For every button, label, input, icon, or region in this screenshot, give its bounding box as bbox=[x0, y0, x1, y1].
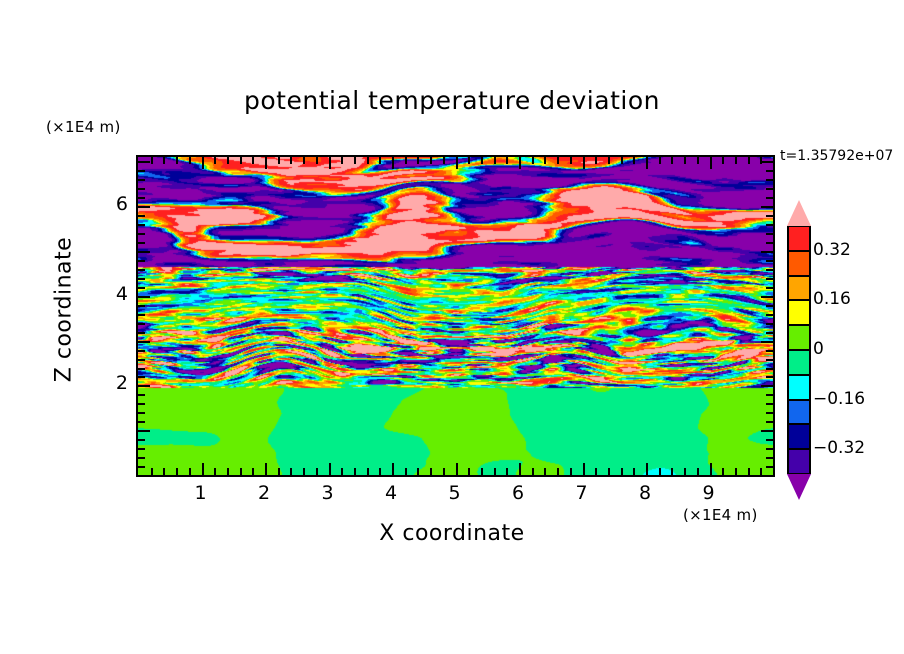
x-tick bbox=[506, 468, 508, 475]
y-tick-right bbox=[766, 278, 773, 280]
x-tick-top bbox=[684, 157, 686, 164]
y-tick bbox=[138, 188, 145, 190]
y-tick bbox=[138, 439, 145, 441]
x-tick-top bbox=[316, 157, 318, 164]
x-tick-label: 9 bbox=[694, 482, 724, 504]
x-tick-top bbox=[176, 157, 178, 164]
x-tick-top bbox=[532, 157, 534, 164]
x-tick-label: 2 bbox=[249, 482, 279, 504]
x-tick-top bbox=[214, 157, 216, 164]
x-tick bbox=[481, 468, 483, 475]
y-tick-right bbox=[766, 260, 773, 262]
y-tick bbox=[138, 385, 150, 387]
page-title: potential temperature deviation bbox=[0, 86, 904, 115]
x-tick bbox=[417, 468, 419, 475]
y-tick-right bbox=[766, 242, 773, 244]
y-tick-right bbox=[766, 323, 773, 325]
x-tick-top bbox=[544, 157, 546, 164]
x-tick bbox=[443, 468, 445, 475]
y-tick bbox=[138, 215, 145, 217]
y-tick-label: 2 bbox=[104, 372, 128, 394]
x-tick-top bbox=[570, 157, 572, 164]
y-tick-right bbox=[766, 466, 773, 468]
y-tick bbox=[138, 224, 145, 226]
y-tick bbox=[138, 233, 145, 235]
y-tick-right bbox=[761, 430, 773, 432]
x-tick bbox=[265, 463, 267, 475]
y-tick-right bbox=[766, 439, 773, 441]
colorbar-band bbox=[787, 449, 811, 474]
x-tick-top bbox=[341, 157, 343, 164]
x-tick bbox=[710, 463, 712, 475]
y-tick bbox=[138, 287, 145, 289]
x-tick bbox=[722, 468, 724, 475]
y-tick-right bbox=[766, 170, 773, 172]
y-tick-label: 4 bbox=[104, 283, 128, 305]
x-tick bbox=[252, 468, 254, 475]
x-tick-top bbox=[519, 157, 521, 169]
y-tick-right bbox=[766, 412, 773, 414]
y-tick bbox=[138, 341, 150, 343]
y-tick-right bbox=[761, 341, 773, 343]
x-tick bbox=[519, 463, 521, 475]
x-tick bbox=[341, 468, 343, 475]
y-tick-right bbox=[766, 215, 773, 217]
x-tick-top bbox=[227, 157, 229, 164]
y-tick bbox=[138, 314, 145, 316]
x-tick-top bbox=[367, 157, 369, 164]
x-tick bbox=[354, 468, 356, 475]
y-tick-right bbox=[766, 359, 773, 361]
x-tick bbox=[329, 463, 331, 475]
x-tick bbox=[646, 463, 648, 475]
y-tick-right bbox=[761, 385, 773, 387]
x-tick bbox=[468, 468, 470, 475]
y-tick bbox=[138, 170, 145, 172]
x-tick bbox=[227, 468, 229, 475]
y-tick-right bbox=[766, 421, 773, 423]
x-tick-top bbox=[481, 157, 483, 164]
x-tick bbox=[214, 468, 216, 475]
x-tick bbox=[570, 468, 572, 475]
y-tick-right bbox=[766, 188, 773, 190]
x-tick bbox=[671, 468, 673, 475]
x-tick-top bbox=[621, 157, 623, 164]
y-tick-right bbox=[766, 448, 773, 450]
y-tick bbox=[138, 206, 150, 208]
x-tick bbox=[290, 468, 292, 475]
y-tick bbox=[138, 430, 150, 432]
y-tick bbox=[138, 305, 145, 307]
x-tick-top bbox=[189, 157, 191, 164]
y-tick bbox=[138, 161, 150, 163]
x-tick-top bbox=[456, 157, 458, 169]
colorbar-band bbox=[787, 375, 811, 400]
y-tick-right bbox=[761, 206, 773, 208]
x-tick bbox=[430, 468, 432, 475]
x-tick bbox=[583, 463, 585, 475]
x-tick bbox=[316, 468, 318, 475]
x-tick-label: 6 bbox=[503, 482, 533, 504]
x-tick-top bbox=[671, 157, 673, 164]
y-tick bbox=[138, 242, 145, 244]
x-tick-top bbox=[722, 157, 724, 164]
x-tick bbox=[202, 463, 204, 475]
y-tick-right bbox=[766, 376, 773, 378]
y-tick bbox=[138, 251, 150, 253]
colorbar-top-cap bbox=[787, 200, 811, 226]
y-tick bbox=[138, 179, 145, 181]
x-tick bbox=[240, 468, 242, 475]
x-tick-top bbox=[329, 157, 331, 169]
x-tick bbox=[557, 468, 559, 475]
colorbar-label: 0.32 bbox=[813, 240, 851, 260]
y-tick bbox=[138, 466, 145, 468]
x-tick-label: 8 bbox=[630, 482, 660, 504]
x-tick bbox=[544, 468, 546, 475]
x-tick bbox=[621, 468, 623, 475]
y-tick bbox=[138, 350, 145, 352]
x-tick bbox=[595, 468, 597, 475]
x-tick-top bbox=[697, 157, 699, 164]
x-axis-title: X coordinate bbox=[0, 521, 904, 546]
colorbar-band bbox=[787, 400, 811, 425]
x-tick bbox=[697, 468, 699, 475]
y-tick-right bbox=[766, 224, 773, 226]
y-tick bbox=[138, 403, 145, 405]
y-tick-right bbox=[766, 179, 773, 181]
y-axis-title: Z coordinate bbox=[52, 210, 77, 410]
y-tick bbox=[138, 269, 145, 271]
colorbar-band bbox=[787, 424, 811, 449]
time-annotation: t=1.35792e+07 bbox=[780, 148, 893, 164]
y-tick-right bbox=[766, 287, 773, 289]
x-tick bbox=[278, 468, 280, 475]
x-tick bbox=[303, 468, 305, 475]
x-tick-top bbox=[710, 157, 712, 169]
temperature-deviation-field bbox=[138, 157, 773, 475]
x-tick-top bbox=[595, 157, 597, 164]
x-tick-top bbox=[278, 157, 280, 164]
x-tick bbox=[494, 468, 496, 475]
y-tick-right bbox=[761, 251, 773, 253]
x-tick-top bbox=[151, 157, 153, 164]
x-tick-top bbox=[468, 157, 470, 164]
colorbar-band bbox=[787, 226, 811, 251]
y-tick-right bbox=[766, 394, 773, 396]
x-tick bbox=[176, 468, 178, 475]
x-tick-top bbox=[163, 157, 165, 164]
y-tick-right bbox=[761, 296, 773, 298]
x-tick bbox=[659, 468, 661, 475]
y-tick bbox=[138, 260, 145, 262]
x-tick bbox=[760, 468, 762, 475]
y-tick bbox=[138, 448, 145, 450]
x-tick-top bbox=[646, 157, 648, 169]
x-tick-top bbox=[392, 157, 394, 169]
y-tick-right bbox=[766, 457, 773, 459]
x-tick bbox=[163, 468, 165, 475]
z-axis-unit-label: (×1E4 m) bbox=[46, 118, 121, 136]
y-tick-right bbox=[766, 305, 773, 307]
y-tick-right bbox=[761, 161, 773, 163]
x-tick-top bbox=[417, 157, 419, 164]
y-tick bbox=[138, 359, 145, 361]
colorbar-label: −0.32 bbox=[813, 438, 865, 458]
colorbar-band bbox=[787, 300, 811, 325]
colorbar-label: 0 bbox=[813, 339, 824, 359]
x-tick bbox=[456, 463, 458, 475]
x-tick-label: 1 bbox=[186, 482, 216, 504]
x-tick-top bbox=[240, 157, 242, 164]
y-tick bbox=[138, 323, 145, 325]
x-tick bbox=[748, 468, 750, 475]
y-tick bbox=[138, 278, 145, 280]
x-tick bbox=[735, 468, 737, 475]
x-tick-label: 7 bbox=[567, 482, 597, 504]
x-tick-top bbox=[405, 157, 407, 164]
colorbar-band bbox=[787, 276, 811, 301]
colorbar-band bbox=[787, 350, 811, 375]
x-tick-top bbox=[633, 157, 635, 164]
x-tick-top bbox=[659, 157, 661, 164]
y-tick bbox=[138, 296, 150, 298]
y-tick-label: 6 bbox=[104, 193, 128, 215]
x-tick bbox=[379, 468, 381, 475]
x-tick bbox=[392, 463, 394, 475]
colorbar-band bbox=[787, 251, 811, 276]
colorbar-label: 0.16 bbox=[813, 289, 851, 309]
y-tick bbox=[138, 394, 145, 396]
x-tick bbox=[608, 468, 610, 475]
x-tick-top bbox=[252, 157, 254, 164]
x-tick-top bbox=[506, 157, 508, 164]
x-tick-top bbox=[494, 157, 496, 164]
x-tick-top bbox=[735, 157, 737, 164]
y-tick bbox=[138, 332, 145, 334]
colorbar-label: −0.16 bbox=[813, 389, 865, 409]
x-tick-label: 5 bbox=[440, 482, 470, 504]
x-tick-top bbox=[379, 157, 381, 164]
y-tick bbox=[138, 457, 145, 459]
x-tick bbox=[633, 468, 635, 475]
colorbar-bottom-cap bbox=[787, 474, 811, 500]
x-tick-top bbox=[583, 157, 585, 169]
colorbar: 0.320.160−0.16−0.32 bbox=[787, 200, 811, 500]
x-tick-top bbox=[354, 157, 356, 164]
x-tick bbox=[151, 468, 153, 475]
y-tick-right bbox=[766, 350, 773, 352]
x-tick-top bbox=[290, 157, 292, 164]
x-tick-top bbox=[608, 157, 610, 164]
y-tick-right bbox=[766, 403, 773, 405]
y-tick-right bbox=[766, 314, 773, 316]
y-tick-right bbox=[766, 197, 773, 199]
x-tick bbox=[684, 468, 686, 475]
y-tick bbox=[138, 376, 145, 378]
x-tick-label: 3 bbox=[313, 482, 343, 504]
x-tick-top bbox=[557, 157, 559, 164]
x-tick-top bbox=[430, 157, 432, 164]
y-tick-right bbox=[766, 269, 773, 271]
x-tick-label: 4 bbox=[376, 482, 406, 504]
x-tick-top bbox=[748, 157, 750, 164]
y-tick-right bbox=[766, 233, 773, 235]
y-tick-right bbox=[766, 368, 773, 370]
y-tick bbox=[138, 197, 145, 199]
x-tick bbox=[532, 468, 534, 475]
colorbar-band bbox=[787, 325, 811, 350]
y-tick bbox=[138, 412, 145, 414]
x-tick bbox=[189, 468, 191, 475]
x-tick-top bbox=[443, 157, 445, 164]
x-tick-top bbox=[265, 157, 267, 169]
contour-plot-area bbox=[136, 155, 775, 477]
x-tick-top bbox=[202, 157, 204, 169]
y-tick bbox=[138, 368, 145, 370]
y-tick bbox=[138, 421, 145, 423]
y-tick-right bbox=[766, 332, 773, 334]
x-tick bbox=[367, 468, 369, 475]
x-tick bbox=[405, 468, 407, 475]
x-tick-top bbox=[303, 157, 305, 164]
